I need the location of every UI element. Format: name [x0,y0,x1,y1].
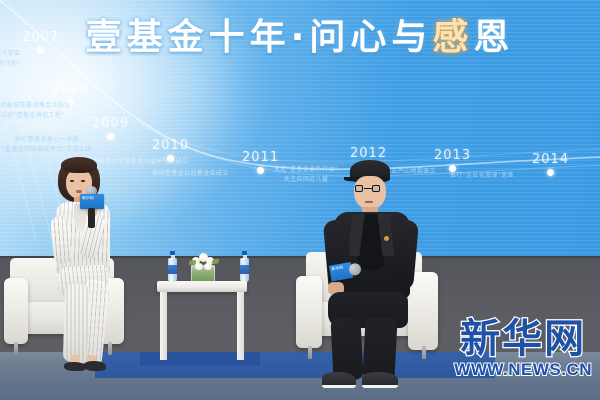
timeline-year-label: 2014 [532,152,569,167]
guest-left-fringe [61,157,97,173]
guest-right-glasses-left-lens [355,185,363,192]
timeline-caption-line-1: 推行"企业化管理"思维 [450,172,514,180]
guest-left-shoe-2 [84,361,106,371]
guest-right-sneaker-right [362,372,398,388]
bottle-label [168,265,177,274]
vase-leaf-2 [212,259,219,264]
side-table [157,281,249,363]
timeline-caption-2008: 与民政部签署战略合作协议启动"壹基金典范工程" [0,100,71,120]
timeline-year-label: 2011 [242,150,279,165]
banner-title-accent: 感 [432,17,473,58]
watermark-url: WWW.NEWS.CN [454,361,592,378]
watermark: 新华网 WWW.NEWS.CN [454,319,592,378]
microphone-left-flag: 新华网 [80,194,104,209]
timeline-dot [547,169,554,176]
sneaker-sole [322,385,356,388]
timeline-caption-line-1: 发行壹基金爱心一卡通 [2,136,92,144]
water-bottle-right [240,251,249,282]
timeline-caption-line-2: 启动"壹基金典范工程" [0,112,71,120]
timeline-caption-line-2: "壹基金网络捐款平台"正式上线 [2,146,92,154]
bottle-label [240,265,249,274]
microphone-left: 新华网 [80,186,106,234]
rose-4 [195,263,203,270]
timeline-milestone-2009: 2009 [92,116,129,140]
watermark-brand: 新华网 [454,319,592,359]
guest-right-arm-right [391,219,419,291]
guest-right-sneaker-left [322,372,356,388]
guest-left-eye-left [70,180,74,182]
side-table-leg-left [160,292,167,360]
banner-title: 壹基金十年·问心与感恩 [86,8,515,60]
guest-left-shoe-1 [64,362,86,371]
banner-title-container: 壹基金十年·问心与感恩 [0,8,600,60]
timeline-caption-2009: 发行壹基金爱心一卡通"壹基金网络捐款平台"正式上线 [2,134,92,154]
timeline-caption-line-1: 深圳壹基金公益基金会成立 [152,170,229,178]
side-table-leg-right [237,292,244,360]
timeline-caption-2014: 推行"企业化管理"思维 [450,170,514,182]
timeline-caption-2011: 深圳壹基金公益基金会成立 [152,168,229,180]
microphone-left-handle [88,208,95,228]
water-bottle-left [168,251,177,282]
banner-title-main: 壹基金十年·问心与 [86,17,433,58]
microphone-right-flag-label: 新华网 [331,264,349,271]
armchair-left-arm-left [4,278,28,344]
rose-5 [204,263,212,270]
banner-title-tail: 恩 [473,17,514,58]
guest-right-lapel-pin [384,236,389,241]
timeline-year-label: 2009 [92,116,129,131]
sneaker-sole [362,385,398,388]
guest-right-mouth [365,201,373,203]
timeline-year-label: 2008 [52,82,89,97]
timeline-caption-line-2: "壹基金计划" [0,60,20,68]
timeline-milestone-2014: 2014 [532,152,569,176]
timeline-caption-line-1: 与民政部签署战略合作协议 [0,102,71,110]
guest-left-leg-back [63,284,90,363]
microphone-right: 新华网 [329,261,363,292]
flower-vase [191,246,217,284]
timeline-year-label: 2010 [152,138,189,153]
guest-left-eye-right [81,180,85,182]
guest-right-glasses-bridge [364,188,372,189]
guest-right-face [354,176,386,210]
guest-right-glasses-right-lens [372,185,380,192]
armchair-left-leg-1 [14,342,18,355]
microphone-left-flag-label: 新华网 [82,196,102,200]
vase-leaf-1 [189,260,196,265]
timeline-dot [107,133,114,140]
timeline-dot [257,167,264,174]
timeline-year-label: 2012 [350,146,387,161]
screenshot-root: 壹基金十年·问心与感恩 2007中国红十字会"壹基金计划"2008与民政部签署战… [0,0,600,400]
